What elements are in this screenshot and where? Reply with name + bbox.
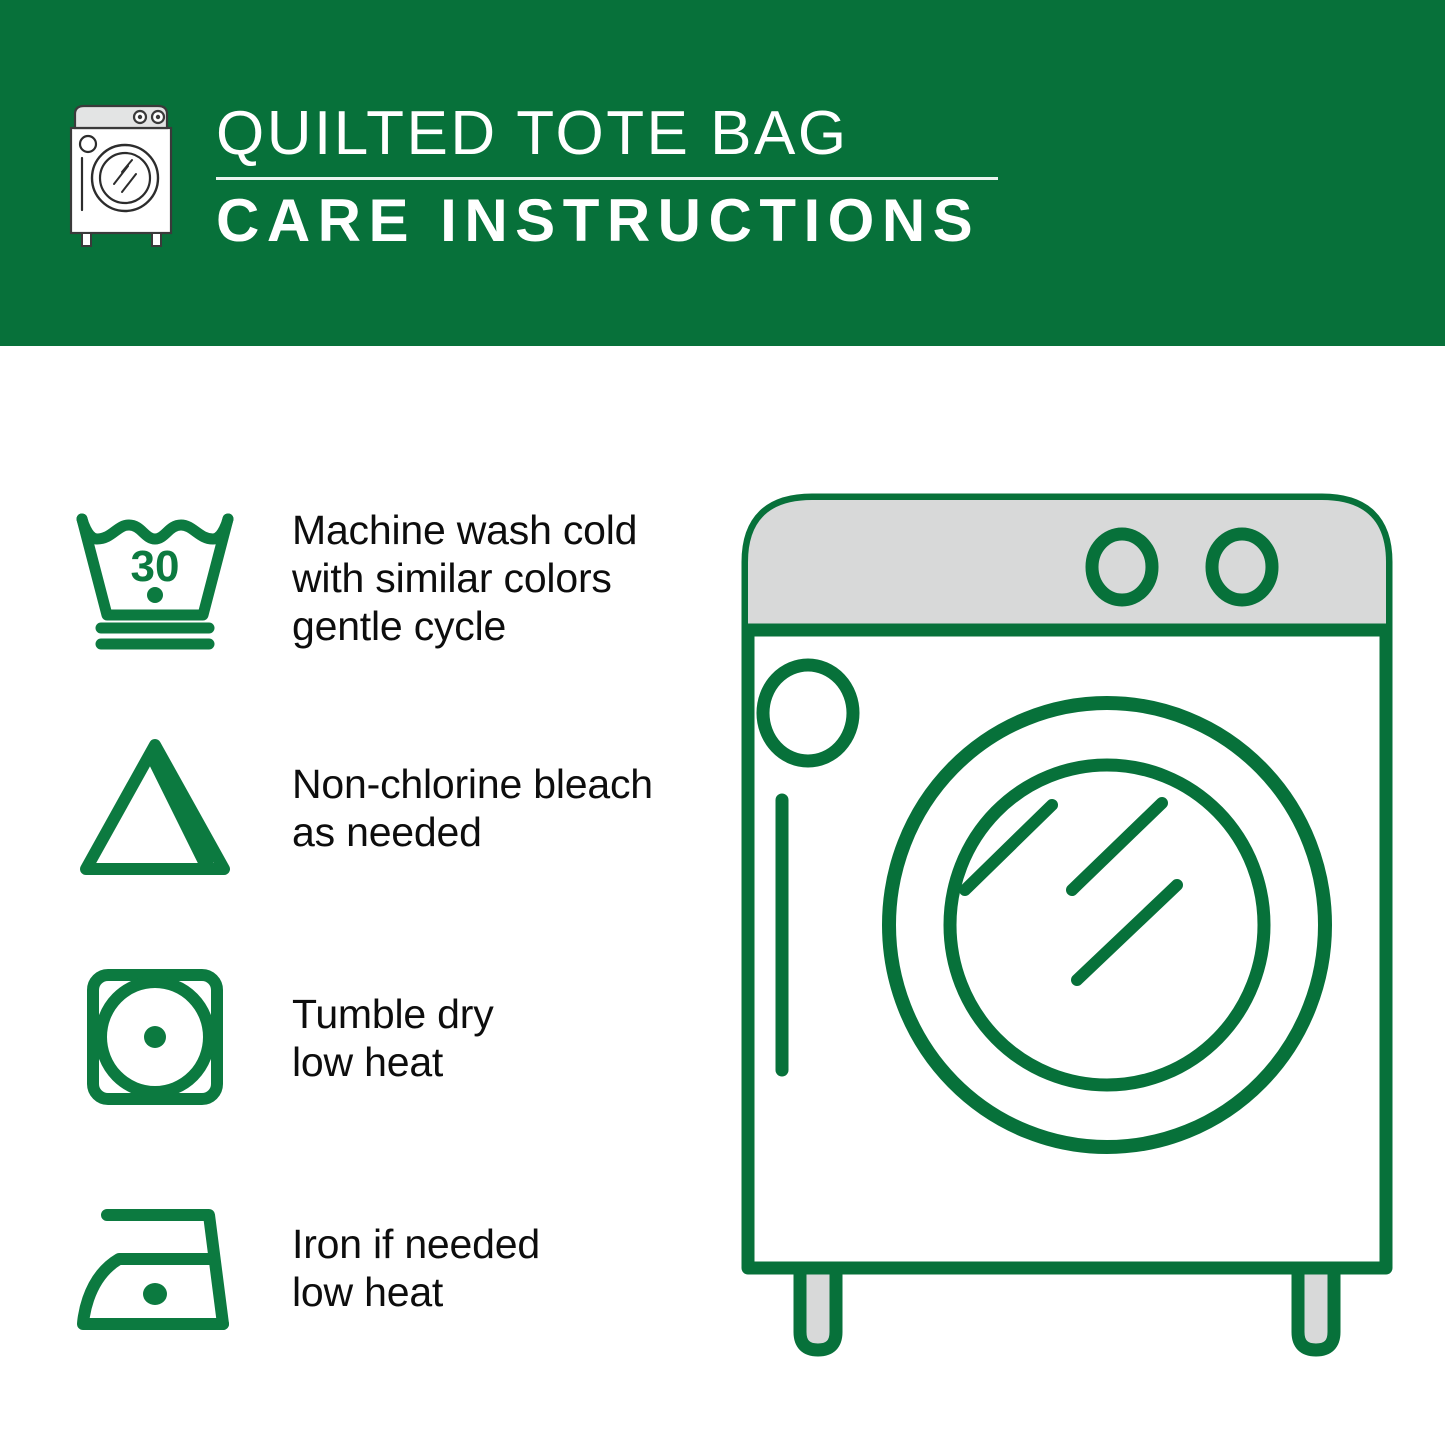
care-text-machine-wash: Machine wash cold with similar colors ge… xyxy=(292,506,637,650)
care-text-bleach: Non-chlorine bleach as needed xyxy=(292,760,653,856)
page-subtitle: CARE INSTRUCTIONS xyxy=(212,189,998,253)
header-content: QUILTED TOTE BAG CARE INSTRUCTIONS xyxy=(62,100,998,253)
front-load-washing-machine-illustration xyxy=(722,470,1412,1370)
care-text-iron: Iron if needed low heat xyxy=(292,1220,540,1316)
header-text-block: QUILTED TOTE BAG CARE INSTRUCTIONS xyxy=(212,102,998,253)
care-line: as needed xyxy=(292,808,653,856)
care-line: Tumble dry xyxy=(292,990,494,1038)
header-band: QUILTED TOTE BAG CARE INSTRUCTIONS xyxy=(0,0,1445,346)
care-line: gentle cycle xyxy=(292,602,637,650)
control-panel xyxy=(748,500,1386,630)
care-line: low heat xyxy=(292,1038,494,1086)
care-row-machine-wash: 30 Machine wash cold with similar colors… xyxy=(70,488,690,668)
care-line: Iron if needed xyxy=(292,1220,540,1268)
wash-temp-value: 30 xyxy=(131,542,180,591)
iron-heat-dot xyxy=(143,1283,167,1305)
care-line: Non-chlorine bleach xyxy=(292,760,653,808)
tumble-dry-low-icon xyxy=(70,958,240,1118)
dry-heat-dot xyxy=(144,1026,166,1048)
care-line: with similar colors xyxy=(292,554,637,602)
header-divider xyxy=(216,177,998,180)
non-chlorine-bleach-triangle-icon xyxy=(70,728,240,888)
washing-machine-icon xyxy=(62,100,180,250)
care-row-iron: Iron if needed low heat xyxy=(70,1178,690,1358)
care-text-tumble-dry: Tumble dry low heat xyxy=(292,990,494,1086)
leg-right xyxy=(1298,1268,1334,1350)
care-row-tumble-dry: Tumble dry low heat xyxy=(70,948,690,1128)
wash-dot xyxy=(147,587,163,603)
care-line: Machine wash cold xyxy=(292,506,637,554)
machine-wash-30-icon: 30 xyxy=(70,498,240,658)
leg-left xyxy=(800,1268,836,1350)
page-title: QUILTED TOTE BAG xyxy=(212,102,998,166)
care-row-bleach: Non-chlorine bleach as needed xyxy=(70,718,690,898)
care-line: low heat xyxy=(292,1268,540,1316)
care-instructions-list: 30 Machine wash cold with similar colors… xyxy=(70,488,690,1358)
iron-low-heat-icon xyxy=(70,1188,240,1348)
